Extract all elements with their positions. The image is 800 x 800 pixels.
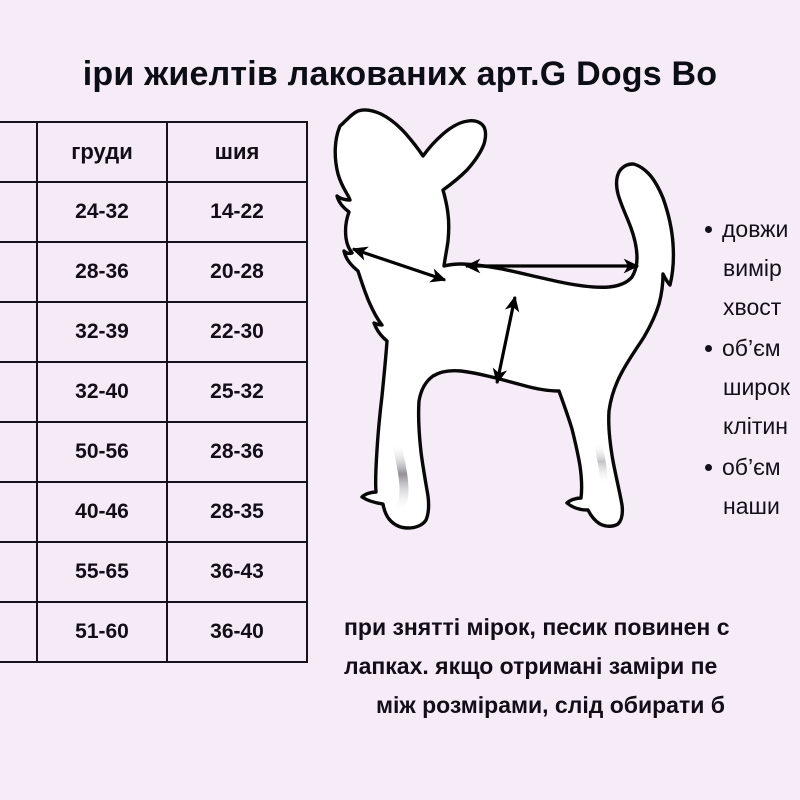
table-header-cell-size: а bbox=[0, 122, 37, 182]
table-row: 32-40 25-32 bbox=[0, 362, 307, 422]
table-row: 55-65 36-43 bbox=[0, 542, 307, 602]
table-cell-neck: 28-36 bbox=[167, 422, 307, 482]
table-row: 50-56 28-36 bbox=[0, 422, 307, 482]
dog-body-outline bbox=[335, 110, 673, 528]
bullet-3-line-1: об’єм bbox=[722, 448, 800, 487]
table-cell-chest: 55-65 bbox=[37, 542, 167, 602]
table-cell-chest: 24-32 bbox=[37, 182, 167, 242]
table-cell-chest: 50-56 bbox=[37, 422, 167, 482]
table-cell-size bbox=[0, 602, 37, 662]
list-item: об’єм широк клітин bbox=[722, 329, 800, 446]
table-row: 51-60 36-40 bbox=[0, 602, 307, 662]
table-cell-neck: 36-40 bbox=[167, 602, 307, 662]
bullet-2-line-1: об’єм bbox=[722, 329, 800, 368]
footnote-line-1: при знятті мірок, песик повинен с bbox=[344, 608, 800, 647]
table-row: 40-46 28-35 bbox=[0, 482, 307, 542]
bullet-3-line-2: наши bbox=[722, 487, 800, 526]
table-cell-size bbox=[0, 422, 37, 482]
table-cell-neck: 22-30 bbox=[167, 302, 307, 362]
table-cell-size bbox=[0, 182, 37, 242]
measurement-footnote: при знятті мірок, песик повинен с лапках… bbox=[344, 608, 800, 725]
table-cell-chest: 40-46 bbox=[37, 482, 167, 542]
bullet-2-line-3: клітин bbox=[722, 407, 800, 446]
table-row: 32-39 22-30 bbox=[0, 302, 307, 362]
table-cell-neck: 25-32 bbox=[167, 362, 307, 422]
bullet-1-line-1: довжи bbox=[722, 210, 800, 249]
table-cell-neck: 14-22 bbox=[167, 182, 307, 242]
footnote-line-3: між розмірами, слід обирати б bbox=[344, 686, 800, 725]
bullet-1-line-3: хвост bbox=[722, 288, 800, 327]
table-cell-size bbox=[0, 302, 37, 362]
dog-illustration bbox=[320, 108, 702, 533]
bullet-1-line-2: вимір bbox=[722, 249, 800, 288]
size-table: а груди шия 24-32 14-22 28-36 20-28 32-3… bbox=[0, 121, 308, 663]
footnote-line-2: лапках. якщо отримані заміри пе bbox=[344, 647, 800, 686]
table-cell-neck: 36-43 bbox=[167, 542, 307, 602]
bullet-2-line-2: широк bbox=[722, 368, 800, 407]
table-cell-neck: 20-28 bbox=[167, 242, 307, 302]
table-cell-chest: 32-39 bbox=[37, 302, 167, 362]
table-row: 24-32 14-22 bbox=[0, 182, 307, 242]
size-chart-infographic: іри жиелтів лакованих арт.G Dogs Bo а гр… bbox=[0, 0, 800, 800]
table-header-cell-chest: груди bbox=[37, 122, 167, 182]
table-row: 28-36 20-28 bbox=[0, 242, 307, 302]
table-cell-chest: 32-40 bbox=[37, 362, 167, 422]
table-cell-size bbox=[0, 482, 37, 542]
table-cell-size bbox=[0, 362, 37, 422]
page-title: іри жиелтів лакованих арт.G Dogs Bo bbox=[0, 52, 800, 96]
table-cell-size bbox=[0, 242, 37, 302]
table-cell-size bbox=[0, 542, 37, 602]
list-item: об’єм наши bbox=[722, 448, 800, 526]
table-cell-chest: 28-36 bbox=[37, 242, 167, 302]
table-header-row: а груди шия bbox=[0, 122, 307, 182]
measurement-instructions-list: довжи вимір хвост об’єм широк клітин об’… bbox=[700, 210, 800, 528]
table-header-cell-neck: шия bbox=[167, 122, 307, 182]
table-cell-neck: 28-35 bbox=[167, 482, 307, 542]
table-cell-chest: 51-60 bbox=[37, 602, 167, 662]
list-item: довжи вимір хвост bbox=[722, 210, 800, 327]
